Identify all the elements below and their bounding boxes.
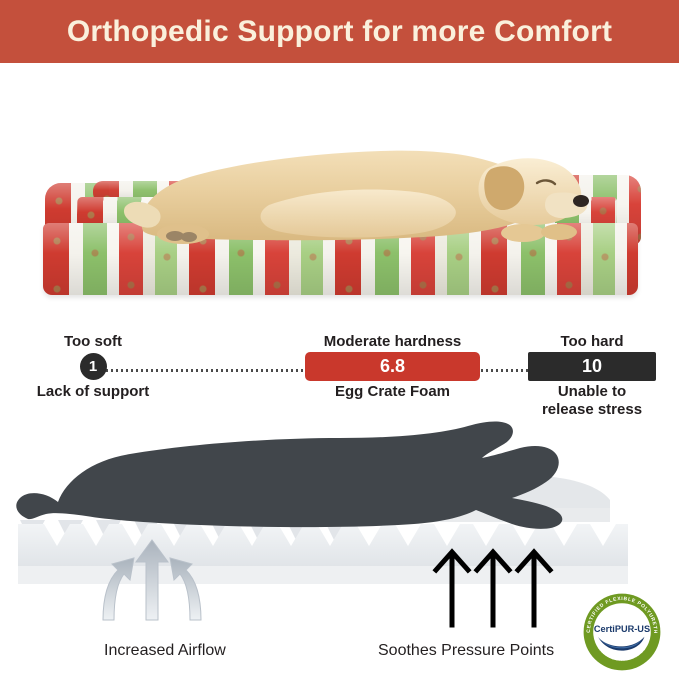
certipur-us-badge: CONTAINS CERTIFIED FLEXIBLE POLYURETHANE… <box>582 592 662 672</box>
scale-marker-current-value: 6.8 <box>305 352 480 381</box>
pressure-arrow-3 <box>518 552 550 625</box>
scale-node-top-label: Moderate hardness <box>305 333 480 350</box>
page-title: Orthopedic Support for more Comfort <box>67 15 612 49</box>
scale-node-bottom-label: Lack of support <box>28 383 158 401</box>
pressure-arrow-2 <box>477 552 509 625</box>
dog-bed-illustration <box>33 135 646 300</box>
scale-node-bottom-label-line1: Unable to <box>528 383 656 401</box>
golden-retriever-dog <box>119 135 589 247</box>
caption-increased-airflow: Increased Airflow <box>104 642 226 660</box>
caption-soothes-pressure-points: Soothes Pressure Points <box>378 642 554 660</box>
product-photo <box>0 63 679 310</box>
scale-node-too-soft: Too soft 1 Lack of support <box>28 333 158 401</box>
foam-cross-section-diagram <box>0 420 679 635</box>
scale-node-too-hard: Too hard 10 Unable to release stress <box>528 333 656 418</box>
scale-node-top-label: Too soft <box>28 333 158 350</box>
scale-node-bottom-label: Unable to release stress <box>528 383 656 418</box>
scale-node-top-label: Too hard <box>528 333 656 350</box>
scale-node-moderate: Moderate hardness 6.8 Egg Crate Foam <box>305 333 480 401</box>
scale-marker-10: 10 <box>528 352 656 381</box>
scale-node-bottom-label-line2: release stress <box>528 401 656 419</box>
scale-node-bottom-label: Egg Crate Foam <box>305 383 480 401</box>
pressure-arrow-1 <box>436 552 468 625</box>
pressure-arrows <box>436 552 550 625</box>
header-banner: Orthopedic Support for more Comfort <box>0 0 679 63</box>
badge-brand-text: CertiPUR-US <box>594 624 650 634</box>
scale-marker-1: 1 <box>80 353 107 380</box>
